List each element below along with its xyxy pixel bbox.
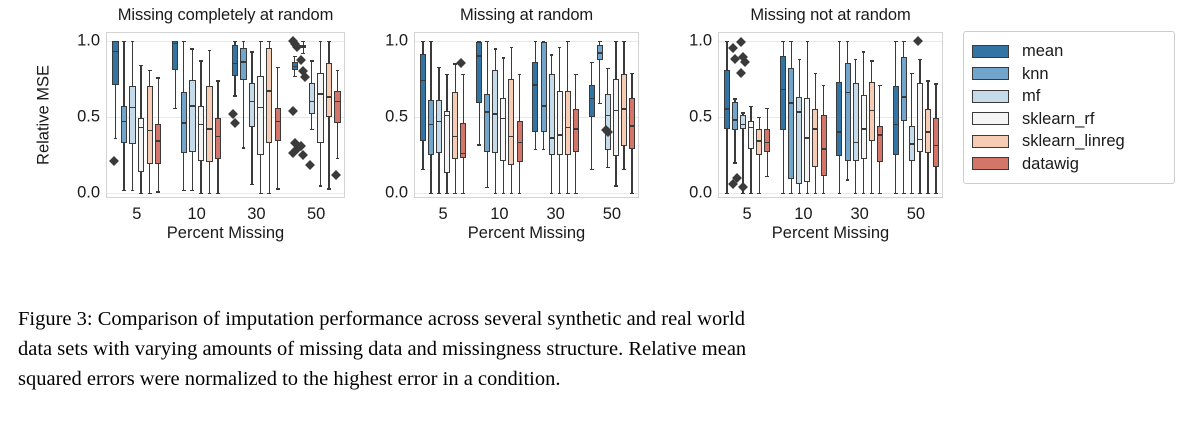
legend-label: mean	[1022, 43, 1063, 60]
box-group-10	[167, 33, 227, 197]
axes: 0.00.51.05103050	[414, 32, 639, 198]
box-group-10	[471, 33, 527, 197]
axes: 0.00.51.05103050	[106, 32, 345, 198]
legend-item-mean[interactable]: mean	[972, 40, 1164, 63]
legend-label: mf	[1022, 88, 1040, 105]
legend-swatch-icon	[972, 45, 1009, 58]
whisker-cap-high	[574, 74, 578, 75]
x-axis-label: Percent Missing	[414, 224, 639, 243]
legend-swatch-icon	[972, 67, 1009, 80]
whisker-cap-high	[518, 74, 522, 75]
y-tick-label: 0.5	[385, 107, 408, 126]
box-group-5	[719, 33, 775, 197]
box-group-30	[832, 33, 888, 197]
boxplot-datawig	[528, 33, 584, 197]
boxplot-datawig	[415, 33, 471, 197]
axes-inner: 0.00.51.05103050	[719, 33, 942, 197]
median-line	[517, 142, 523, 144]
whisker-cap-high	[630, 73, 634, 74]
legend-label: sklearn_rf	[1022, 111, 1094, 128]
whisker-cap-high	[336, 70, 340, 71]
boxplot-datawig	[471, 33, 527, 197]
x-tick-label: 50	[907, 205, 925, 224]
legend-item-sklearn_linreg[interactable]: sklearn_linreg	[972, 130, 1164, 153]
x-axis-label: Percent Missing	[718, 224, 943, 243]
y-tick-label: 0.0	[385, 183, 408, 202]
x-axis-label: Percent Missing	[106, 224, 345, 243]
y-tick-label: 0.5	[77, 107, 100, 126]
whisker-cap-high	[822, 85, 826, 86]
median-line	[460, 153, 466, 155]
y-tick-label: 0.0	[689, 183, 712, 202]
box-group-30	[227, 33, 287, 197]
whisker-cap-low	[156, 191, 160, 192]
legend: meanknnmfsklearn_rfsklearn_linregdatawig	[963, 31, 1175, 184]
caption-line: Figure 3: Comparison of imputation perfo…	[18, 304, 1168, 334]
box-group-10	[775, 33, 831, 197]
whisker-cap-low	[765, 176, 769, 177]
box-group-5	[415, 33, 471, 197]
box-group-30	[528, 33, 584, 197]
x-tick-label: 5	[439, 205, 448, 224]
legend-swatch-icon	[972, 112, 1009, 125]
legend-label: datawig	[1022, 156, 1079, 173]
whisker-cap-low	[630, 193, 634, 194]
median-line	[877, 134, 883, 136]
whisker-cap-low	[216, 193, 220, 194]
box-iqr	[933, 118, 939, 167]
boxplot-datawig	[167, 33, 227, 197]
whisker-cap-high	[156, 77, 160, 78]
median-line	[573, 128, 579, 130]
figure-caption: Figure 3: Comparison of imputation perfo…	[18, 304, 1168, 394]
boxplot-datawig	[832, 33, 888, 197]
boxplot-datawig	[888, 33, 944, 197]
boxplot-datawig	[286, 33, 346, 197]
median-line	[275, 121, 281, 123]
median-line	[215, 136, 221, 138]
axes-inner: 0.00.51.05103050	[415, 33, 638, 197]
outlier-marker	[457, 59, 467, 69]
y-tick-label: 0.0	[77, 183, 100, 202]
panel-1: Missing completely at random0.00.51.0510…	[28, 0, 355, 260]
legend-label: sklearn_linreg	[1022, 133, 1125, 150]
box-iqr	[821, 115, 827, 176]
box-group-50	[286, 33, 346, 197]
box-iqr	[877, 126, 883, 163]
y-axis-label: Relative MSE	[35, 65, 54, 165]
box-iqr	[573, 109, 579, 152]
whisker-cap-high	[461, 74, 465, 75]
legend-item-sklearn_rf[interactable]: sklearn_rf	[972, 108, 1164, 131]
legend-label: knn	[1022, 66, 1049, 83]
whisker-cap-low	[461, 193, 465, 194]
y-tick-label: 1.0	[689, 31, 712, 50]
legend-swatch-icon	[972, 90, 1009, 103]
whisker-cap-high	[878, 85, 882, 86]
x-tick-label: 5	[132, 205, 141, 224]
panel-title: Missing not at random	[718, 6, 943, 25]
box-iqr	[155, 124, 161, 164]
whisker-cap-high	[276, 67, 280, 68]
box-iqr	[764, 129, 770, 152]
x-tick-label: 50	[603, 205, 621, 224]
x-tick-label: 30	[850, 205, 868, 224]
caption-line: squared errors were normalized to the hi…	[18, 364, 1168, 394]
boxplot-datawig	[584, 33, 640, 197]
panel-2: Missing at random0.00.51.05103050Percent…	[340, 0, 690, 260]
legend-swatch-icon	[972, 157, 1009, 170]
x-tick-label: 10	[187, 205, 205, 224]
x-tick-label: 10	[794, 205, 812, 224]
axes-inner: 0.00.51.05103050	[107, 33, 344, 197]
whisker-cap-low	[276, 188, 280, 189]
whisker-cap-high	[216, 80, 220, 81]
x-tick-label: 10	[490, 205, 508, 224]
panel-title: Missing completely at random	[106, 6, 345, 25]
median-line	[764, 142, 770, 144]
whisker-cap-low	[878, 193, 882, 194]
x-tick-label: 50	[307, 205, 325, 224]
whisker-cap-low	[822, 193, 826, 194]
median-line	[933, 145, 939, 147]
box-iqr	[629, 98, 635, 148]
y-tick-label: 1.0	[77, 31, 100, 50]
x-tick-label: 5	[743, 205, 752, 224]
boxplot-datawig	[227, 33, 287, 197]
caption-line: data sets with varying amounts of missin…	[18, 334, 1168, 364]
box-group-5	[107, 33, 167, 197]
legend-item-knn[interactable]: knn	[972, 63, 1164, 86]
whisker-cap-high	[765, 108, 769, 109]
y-tick-label: 0.5	[689, 107, 712, 126]
whisker-cap-low	[574, 193, 578, 194]
whisker-cap-low	[518, 193, 522, 194]
box-group-50	[584, 33, 640, 197]
whisker-cap-low	[934, 193, 938, 194]
boxplot-datawig	[107, 33, 167, 197]
panel-title: Missing at random	[414, 6, 639, 25]
legend-swatch-icon	[972, 135, 1009, 148]
median-line	[155, 140, 161, 142]
figure-3: Missing completely at random0.00.51.0510…	[0, 0, 1190, 428]
whisker-cap-low	[336, 158, 340, 159]
median-line	[629, 125, 635, 127]
panel-3: Missing not at random0.00.51.05103050Per…	[645, 0, 963, 260]
axes: 0.00.51.05103050	[718, 32, 943, 198]
y-tick-label: 1.0	[385, 31, 408, 50]
box-group-50	[888, 33, 944, 197]
legend-item-mf[interactable]: mf	[972, 85, 1164, 108]
legend-item-datawig[interactable]: datawig	[972, 153, 1164, 176]
box-iqr	[215, 118, 221, 159]
whisker-cap-high	[934, 83, 938, 84]
box-iqr	[275, 108, 281, 142]
boxplot-datawig	[775, 33, 831, 197]
median-line	[821, 148, 827, 150]
boxplot-datawig	[719, 33, 775, 197]
x-tick-label: 30	[247, 205, 265, 224]
x-tick-label: 30	[546, 205, 564, 224]
